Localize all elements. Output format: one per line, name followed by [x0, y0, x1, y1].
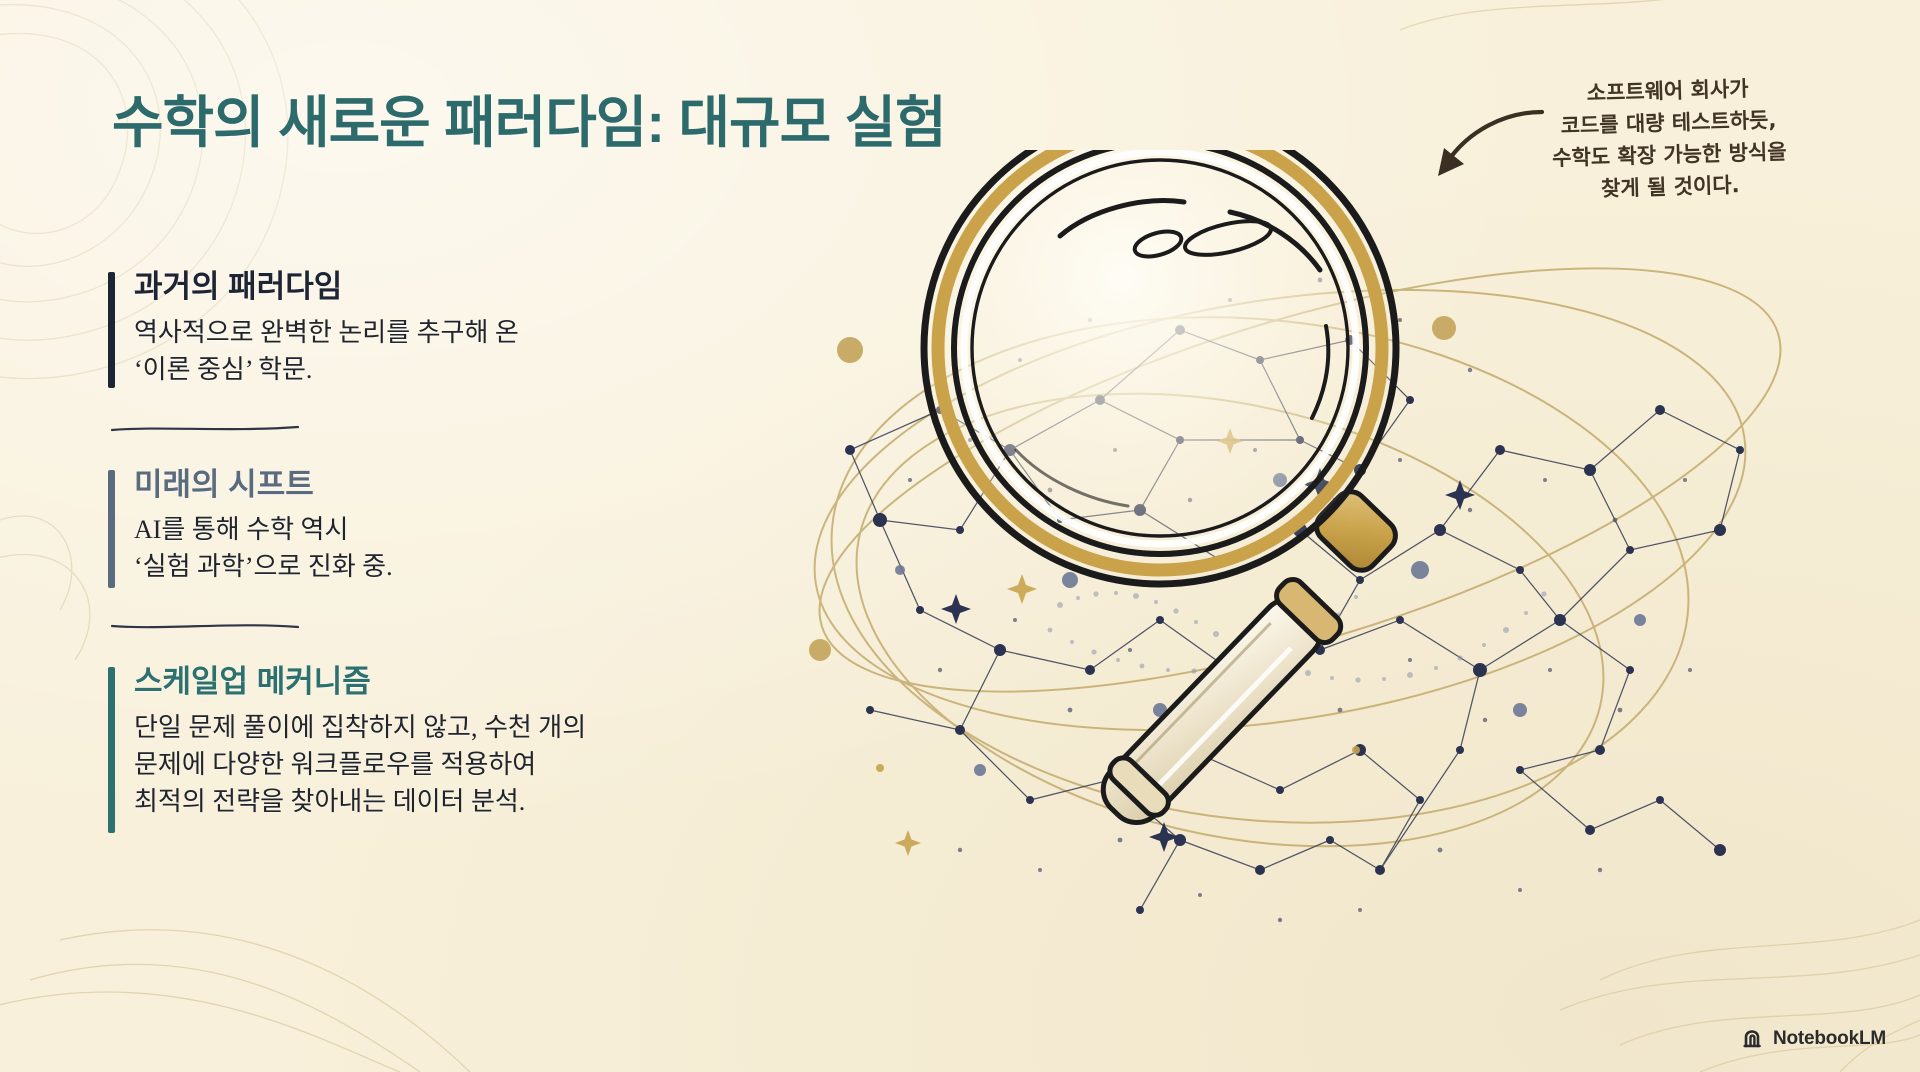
section-past-paradigm: 과거의 패러다임 역사적으로 완벽한 논리를 추구해 온 ‘이론 중심’ 학문. — [108, 268, 748, 389]
section-accent-bar — [108, 470, 115, 588]
section-body: 단일 문제 풀이에 집착하지 않고, 수천 개의 문제에 다양한 워크플로우를 … — [134, 710, 748, 821]
section-future-shift: 미래의 시프트 AI를 통해 수학 역시 ‘실험 과학’으로 진화 중. — [108, 466, 748, 587]
section-body-line: ‘실험 과학’으로 진화 중. — [134, 549, 748, 586]
section-heading: 미래의 시프트 — [134, 466, 748, 505]
notebook-spiral-icon — [1743, 1030, 1765, 1048]
magnifier-handle — [1088, 575, 1345, 838]
section-body-line: AI를 통해 수학 역시 — [134, 512, 748, 549]
page-title: 수학의 새로운 패러다임: 대규모 실험 — [112, 78, 946, 159]
section-body-line: ‘이론 중심’ 학문. — [134, 352, 748, 389]
slide-canvas: 수학의 새로운 패러다임: 대규모 실험 과거의 패러다임 역사적으로 완벽한 … — [0, 0, 1920, 1072]
brand-name: NotebookLM — [1773, 1028, 1886, 1050]
notebooklm-branding: NotebookLM — [1743, 1028, 1886, 1050]
section-body-line: 최적의 전략을 찾아내는 데이터 분석. — [134, 784, 748, 821]
section-divider — [110, 423, 300, 435]
key-points-list: 과거의 패러다임 역사적으로 완벽한 논리를 추구해 온 ‘이론 중심’ 학문.… — [108, 268, 748, 829]
handwritten-annotation: 소프트웨어 회사가 코드를 대량 테스트하듯, 수학도 확장 가능한 방식을 찾… — [1512, 72, 1825, 208]
section-heading: 스케일업 메커니즘 — [134, 663, 748, 702]
magnifier-lens — [924, 150, 1396, 584]
section-body: 역사적으로 완벽한 논리를 추구해 온 ‘이론 중심’ 학문. — [134, 315, 748, 389]
section-divider — [110, 620, 300, 632]
section-scaleup-mechanism: 스케일업 메커니즘 단일 문제 풀이에 집착하지 않고, 수천 개의 문제에 다… — [108, 663, 748, 820]
section-accent-bar — [108, 667, 115, 833]
section-body: AI를 통해 수학 역시 ‘실험 과학’으로 진화 중. — [134, 512, 748, 586]
section-body-line: 역사적으로 완벽한 논리를 추구해 온 — [134, 315, 748, 352]
section-accent-bar — [108, 272, 115, 388]
magnifying-glass-illustration — [760, 150, 1890, 980]
section-heading: 과거의 패러다임 — [134, 268, 748, 307]
section-body-line: 문제에 다양한 워크플로우를 적용하여 — [134, 747, 748, 784]
section-body-line: 단일 문제 풀이에 집착하지 않고, 수천 개의 — [134, 710, 748, 747]
